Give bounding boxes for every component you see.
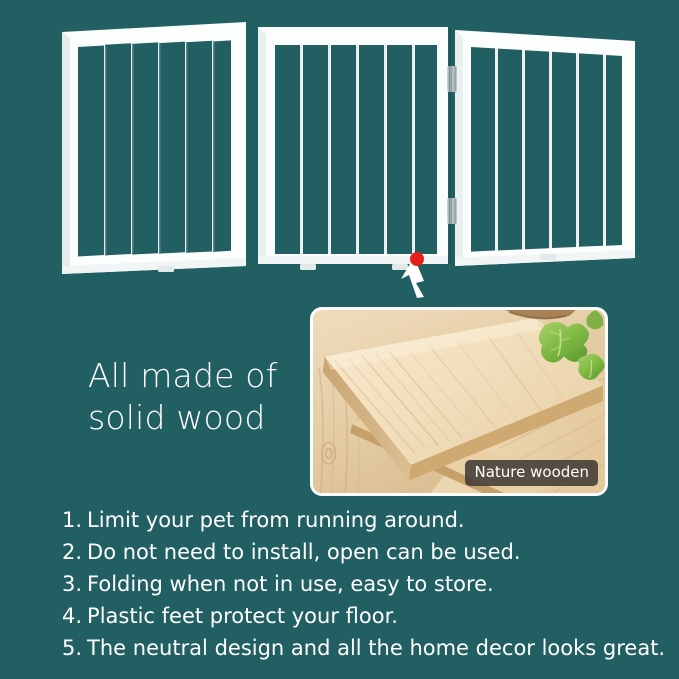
list-item-number: 2.: [62, 540, 82, 564]
list-item-text: Limit your pet from running around.: [87, 508, 465, 532]
page-headline: All made of solid wood: [88, 355, 318, 439]
list-item-number: 1.: [62, 508, 82, 532]
left-panel-slat-gaps: [78, 40, 231, 256]
list-item: 3.Folding when not in use, easy to store…: [62, 569, 662, 600]
list-item: 5.The neutral design and all the home de…: [62, 633, 662, 664]
list-item-number: 3.: [62, 572, 82, 596]
list-item-text: The neutral design and all the home deco…: [87, 636, 665, 660]
left-panel-foot: [158, 266, 174, 272]
list-item-text: Folding when not in use, easy to store.: [87, 572, 494, 596]
wood-callout-marker: [410, 252, 424, 266]
list-item-number: 5.: [62, 636, 82, 660]
gate-hinge-lower: [448, 198, 457, 224]
list-item: 4.Plastic feet protect your floor.: [62, 601, 662, 632]
list-item: 2.Do not need to install, open can be us…: [62, 537, 662, 568]
ivy-leaf-large: [539, 322, 589, 362]
right-panel-foot: [540, 254, 556, 260]
pet-gate-illustration: [0, 0, 679, 300]
right-panel-edge-shade: [455, 30, 463, 266]
gate-hinge-upper: [448, 66, 457, 92]
gate-panel-right: [455, 30, 635, 266]
center-panel-foot-left: [300, 264, 316, 270]
center-panel-foot-right: [392, 264, 408, 270]
list-item: 1.Limit your pet from running around.: [62, 505, 662, 536]
left-panel-edge-shade: [62, 32, 70, 274]
headline-line-2: solid wood: [88, 397, 318, 439]
feature-list: 1.Limit your pet from running around. 2.…: [62, 505, 662, 665]
list-item-number: 4.: [62, 604, 82, 628]
right-panel-slat-gaps: [471, 47, 622, 252]
headline-line-1: All made of: [88, 355, 318, 397]
pet-gate-svg: [0, 0, 679, 300]
gate-panel-center: [258, 27, 448, 270]
center-panel-edge-shade: [258, 27, 266, 264]
list-item-text: Plastic feet protect your floor.: [87, 604, 398, 628]
gate-panel-left: [62, 22, 246, 274]
wood-detail-photo: Nature wooden: [310, 307, 608, 496]
product-infographic: All made of solid wood: [0, 0, 679, 679]
wood-photo-caption-badge: Nature wooden: [465, 460, 598, 486]
list-item-text: Do not need to install, open can be used…: [87, 540, 520, 564]
